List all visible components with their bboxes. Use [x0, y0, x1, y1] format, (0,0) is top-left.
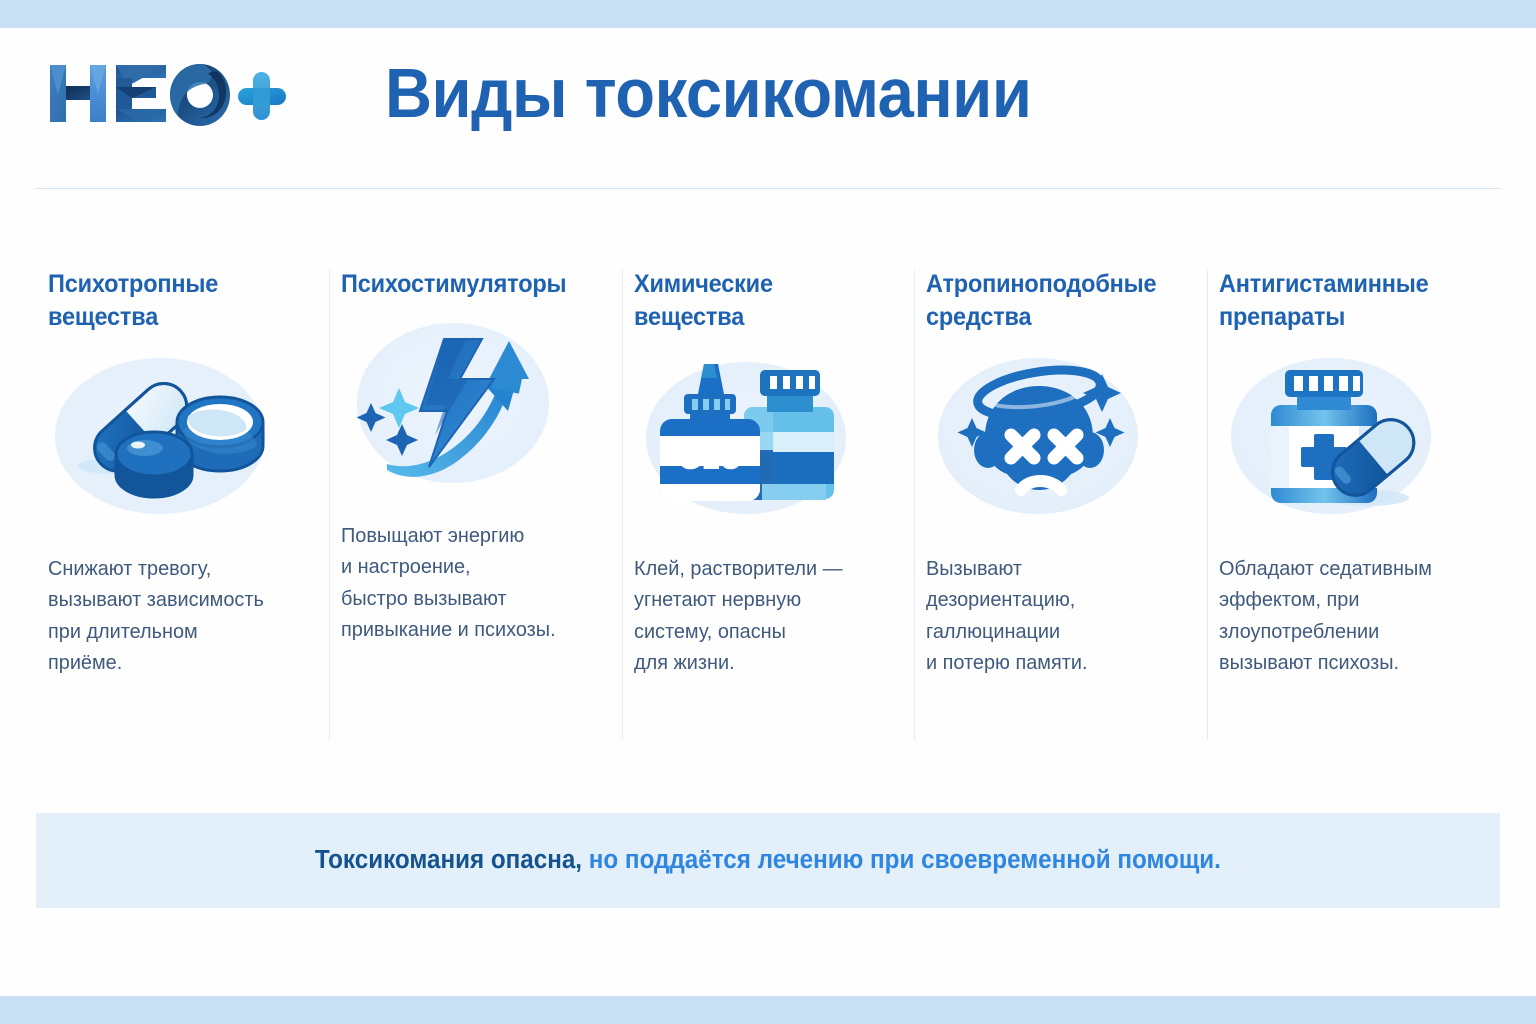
category-heading: Атропиноподобные средства	[926, 268, 1173, 334]
glue-bottles-icon: GLU	[634, 350, 864, 525]
top-edge-band	[0, 0, 1536, 28]
banner-bold-text: Токсикомания опасна,	[315, 846, 582, 874]
dizzy-face-icon	[926, 350, 1156, 525]
banner-accent-text: но поддаётся лечению при своевременной п…	[582, 846, 1221, 874]
header-divider	[36, 188, 1500, 189]
neo-plus-logo	[48, 60, 288, 130]
category-description: Снижают тревогу, вызывают зависимость пр…	[48, 553, 303, 678]
category-antihistamines: Антигистаминные препараты	[1207, 268, 1500, 773]
category-heading: Антигистаминные препараты	[1219, 268, 1466, 334]
lightning-arrow-icon	[341, 317, 571, 492]
category-description: Вызывают дезориентацию, галлюцинации и п…	[926, 553, 1181, 678]
categories-row: Психотропные вещества	[36, 268, 1500, 773]
page-title: Виды токсикомании	[385, 58, 1031, 128]
bottom-edge-band	[0, 996, 1536, 1024]
category-psychotropic: Психотропные вещества	[36, 268, 329, 773]
content-canvas: Виды токсикомании Психотропные вещества	[0, 28, 1536, 996]
footer-banner-text: Токсикомания опасна, но поддаётся лечени…	[315, 848, 1221, 874]
category-heading: Психостимуляторы	[341, 268, 588, 301]
category-heading: Психотропные вещества	[48, 268, 295, 334]
category-description: Клей, растворители — угнетают нервную си…	[634, 553, 889, 678]
infographic-page: Виды токсикомании Психотропные вещества	[0, 0, 1536, 1024]
header: Виды токсикомании	[0, 28, 1536, 188]
category-atropine-like: Атропиноподобные средства	[914, 268, 1207, 773]
glue-label: GLU	[678, 443, 741, 476]
category-description: Обладают седативным эффектом, при злоупо…	[1219, 553, 1474, 678]
footer-banner: Токсикомания опасна, но поддаётся лечени…	[36, 813, 1500, 908]
category-description: Повыщают энергию и настроение, быстро вы…	[341, 520, 596, 645]
category-chemicals: Химические вещества	[622, 268, 915, 773]
pill-bottle-capsule-icon	[1219, 350, 1449, 525]
pills-icon	[48, 350, 278, 525]
category-heading: Химические вещества	[634, 268, 881, 334]
category-stimulants: Психостимуляторы	[329, 268, 622, 773]
